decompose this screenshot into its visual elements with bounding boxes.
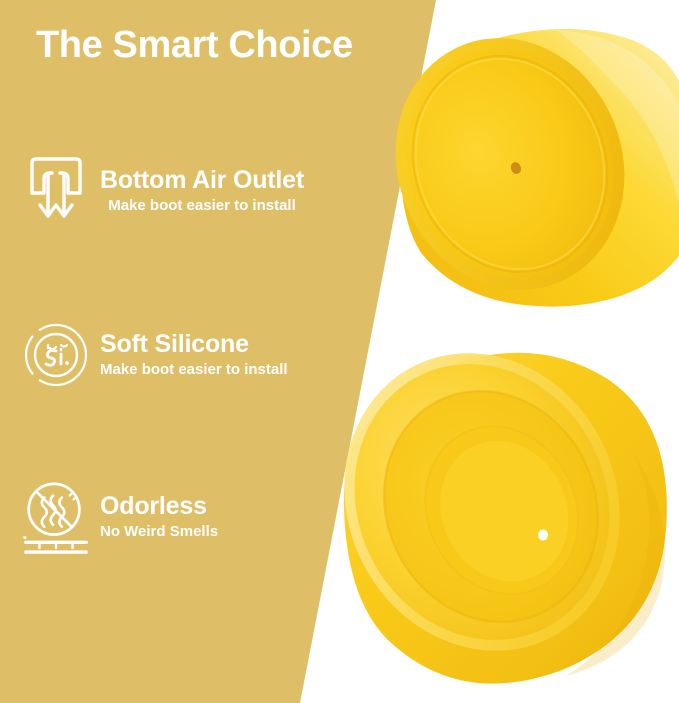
product-image-boot-cover-base: Silicone Boot Cover BPA-FREE bbox=[360, 6, 679, 316]
feature-subtitle: No Weird Smells bbox=[100, 523, 218, 541]
bottom-air-outlet-icon bbox=[18, 148, 94, 234]
soft-silicone-icon bbox=[18, 312, 94, 398]
feature-title: Odorless bbox=[100, 493, 218, 521]
product-photo-area: Silicone Boot Cover BPA-FREE bbox=[300, 0, 679, 703]
feature-title: Soft Silicone bbox=[100, 331, 288, 359]
air-outlet-hole bbox=[538, 530, 548, 541]
odorless-icon bbox=[18, 474, 94, 560]
feature-item-soft-silicone: Soft Silicone Make boot easier to instal… bbox=[18, 312, 288, 398]
feature-title: Bottom Air Outlet bbox=[100, 167, 304, 195]
product-image-boot-cover-open bbox=[330, 330, 679, 690]
product-feature-graphic: The Smart Choice Bottom Air Outlet bbox=[0, 0, 679, 703]
feature-item-bottom-air-outlet: Bottom Air Outlet Make boot easier to in… bbox=[18, 148, 304, 234]
feature-subtitle: Make boot easier to install bbox=[100, 197, 304, 215]
feature-text-group: Bottom Air Outlet Make boot easier to in… bbox=[100, 167, 304, 216]
feature-text-group: Soft Silicone Make boot easier to instal… bbox=[100, 331, 288, 380]
feature-item-odorless: Odorless No Weird Smells bbox=[18, 474, 218, 560]
feature-subtitle: Make boot easier to install bbox=[100, 361, 288, 379]
feature-text-group: Odorless No Weird Smells bbox=[100, 493, 218, 542]
